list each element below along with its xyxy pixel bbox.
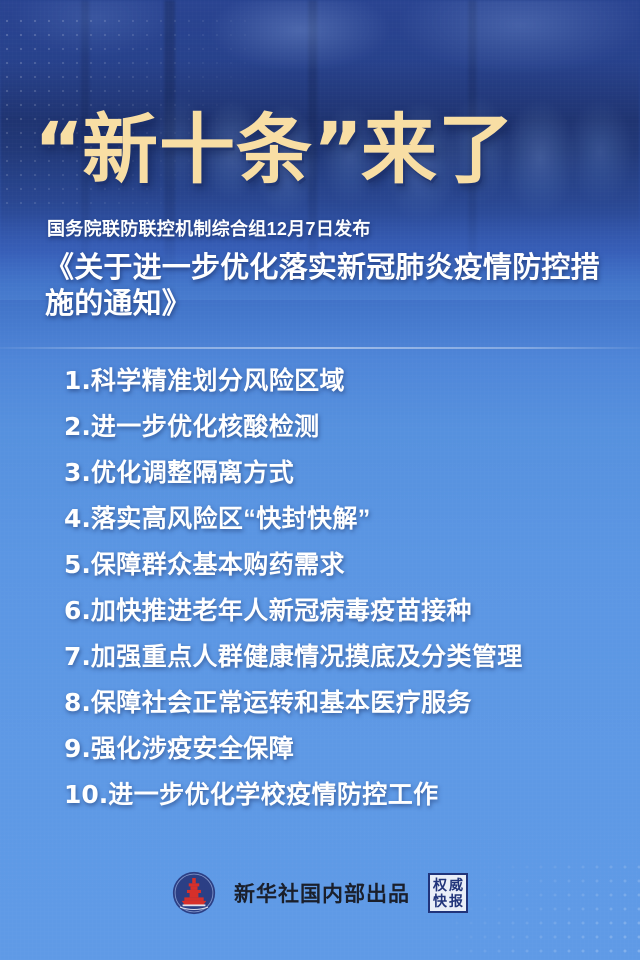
list-item-label: 加强重点人群健康情况摸底及分类管理	[91, 643, 523, 671]
publisher-line: 国务院联防联控机制综合组12月7日发布	[47, 220, 371, 238]
poster-content: “新十条”来了 国务院联防联控机制综合组12月7日发布 《关于进一步优化落实新冠…	[0, 0, 640, 960]
stamp-char: 快	[432, 893, 448, 909]
list-item: 9.强化涉疫安全保障	[0, 726, 640, 772]
list-item-number: 2.	[64, 412, 91, 441]
list-item-label: 进一步优化学校疫情防控工作	[108, 781, 438, 809]
xinhua-logo-icon	[172, 871, 216, 915]
list-item-number: 8.	[64, 688, 91, 717]
list-item: 4.落实高风险区“快封快解”	[0, 496, 640, 542]
list-item-label: 进一步优化核酸检测	[91, 413, 320, 441]
title-keyword: 新十条	[82, 105, 313, 194]
list-item-number: 1.	[64, 366, 91, 395]
stamp-char: 权	[432, 877, 448, 893]
list-item: 1.科学精准划分风险区域	[0, 358, 640, 404]
list-item-number: 6.	[64, 596, 91, 625]
poster-root: “新十条”来了 国务院联防联控机制综合组12月7日发布 《关于进一步优化落实新冠…	[0, 0, 640, 960]
footer: 新华社国内部出品 权 威 快 报	[0, 862, 640, 924]
stamp-char: 报	[448, 893, 464, 909]
list-item-label: 优化调整隔离方式	[91, 459, 294, 487]
list-item: 10.进一步优化学校疫情防控工作	[0, 772, 640, 818]
section-divider	[0, 347, 640, 349]
title-open-quote: “	[34, 105, 82, 194]
list-item-label: 保障社会正常运转和基本医疗服务	[91, 689, 472, 717]
list-item-label: 保障群众基本购药需求	[91, 551, 345, 579]
stamp-char: 威	[448, 877, 464, 893]
list-item: 8.保障社会正常运转和基本医疗服务	[0, 680, 640, 726]
list-item-number: 7.	[64, 642, 91, 671]
list-item-label: 加快推进老年人新冠病毒疫苗接种	[91, 597, 472, 625]
list-item: 2.进一步优化核酸检测	[0, 404, 640, 450]
measures-list: 1.科学精准划分风险区域 2.进一步优化核酸检测 3.优化调整隔离方式 4.落实…	[0, 358, 640, 818]
list-item-number: 5.	[64, 550, 91, 579]
list-item: 3.优化调整隔离方式	[0, 450, 640, 496]
page-title: “新十条”来了	[34, 112, 515, 188]
title-suffix: 来了	[361, 105, 515, 194]
list-item-number: 4.	[64, 504, 91, 533]
list-item-label: 落实高风险区“快封快解”	[91, 505, 371, 533]
list-item-number: 10.	[64, 780, 108, 809]
list-item-number: 9.	[64, 734, 91, 763]
list-item-label: 强化涉疫安全保障	[91, 735, 294, 763]
list-item: 7.加强重点人群健康情况摸底及分类管理	[0, 634, 640, 680]
footer-credit: 新华社国内部出品	[234, 878, 410, 908]
title-close-quote: ”	[313, 105, 361, 194]
document-title: 《关于进一步优化落实新冠肺炎疫情防控措施的通知》	[45, 250, 615, 322]
list-item-label: 科学精准划分风险区域	[91, 367, 345, 395]
list-item-number: 3.	[64, 458, 91, 487]
list-item: 6.加快推进老年人新冠病毒疫苗接种	[0, 588, 640, 634]
list-item: 5.保障群众基本购药需求	[0, 542, 640, 588]
authority-express-stamp: 权 威 快 报	[428, 873, 468, 913]
